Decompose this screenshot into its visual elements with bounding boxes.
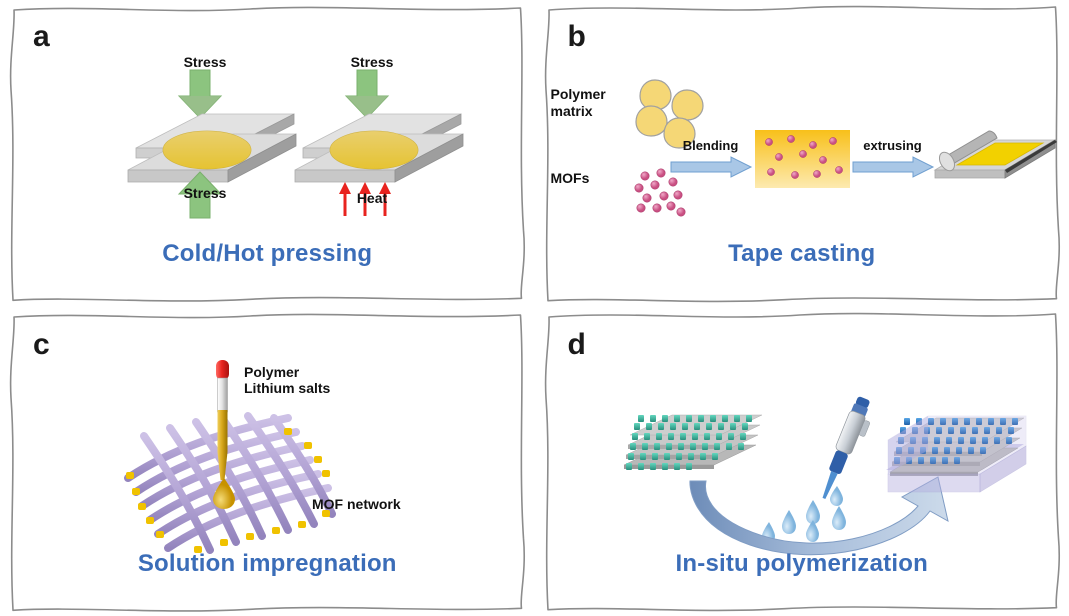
composite-block-illustration	[880, 400, 1030, 505]
polymer-matrix-label-line1: Polymer	[551, 86, 606, 102]
polymer-droplet-icon	[672, 90, 703, 120]
panel-b-letter: b	[568, 22, 586, 52]
mof-network-label: MOF network	[312, 496, 442, 513]
panel-c-caption: Solution impregnation	[0, 550, 535, 578]
right-arrow-icon	[671, 157, 751, 177]
stress-label-top-left: Stress	[160, 54, 250, 71]
figure-grid: a	[0, 0, 1069, 615]
pipette-grip-icon	[828, 449, 848, 474]
extrusing-label: extrusing	[853, 138, 933, 153]
right-arrow-icon	[853, 157, 933, 177]
dropper-liquid-icon	[218, 410, 228, 452]
blending-arrow	[671, 157, 751, 177]
polymer-lithium-label: Polymer Lithium salts	[244, 364, 404, 397]
lithium-salts-label: Lithium salts	[244, 380, 330, 396]
polymer-droplet-falling	[210, 476, 238, 510]
stress-arrow-down-icon	[179, 70, 221, 118]
extrusion-roller-illustration	[927, 118, 1062, 198]
panel-a-caption: Cold/Hot pressing	[0, 240, 535, 268]
panel-d: d	[535, 308, 1069, 616]
panel-c: c	[0, 308, 535, 616]
panel-d-caption: In-situ polymerization	[535, 550, 1069, 578]
blend-mixture-box	[755, 130, 850, 188]
panel-b: b Polymer matrix MOFs	[535, 0, 1069, 308]
panel-a-letter: a	[33, 22, 50, 52]
mof-layer-group	[624, 415, 762, 469]
heat-label: Heat	[327, 190, 417, 207]
panel-b-caption: Tape casting	[535, 240, 1069, 268]
mofs-label: MOFs	[551, 170, 621, 187]
panel-d-letter: d	[568, 330, 586, 360]
dropper-illustration	[204, 358, 244, 488]
extrusing-arrow	[853, 157, 933, 177]
polymer-droplet-icon	[640, 80, 671, 110]
panel-c-letter: c	[33, 330, 50, 360]
stress-label-top-right: Stress	[327, 54, 417, 71]
panel-a: a	[0, 0, 535, 308]
dropper-bulb-icon	[216, 360, 229, 380]
liquid-droplet-icon	[213, 478, 235, 509]
dropper-barrel-icon	[218, 378, 228, 412]
stress-arrow-down-icon	[346, 70, 388, 118]
polymer-matrix-label-line2: matrix	[551, 103, 593, 119]
polymer-label: Polymer	[244, 364, 299, 380]
stress-label-bottom-left: Stress	[160, 185, 250, 202]
blending-label: Blending	[671, 138, 751, 153]
polymer-droplet-icon	[636, 106, 667, 136]
